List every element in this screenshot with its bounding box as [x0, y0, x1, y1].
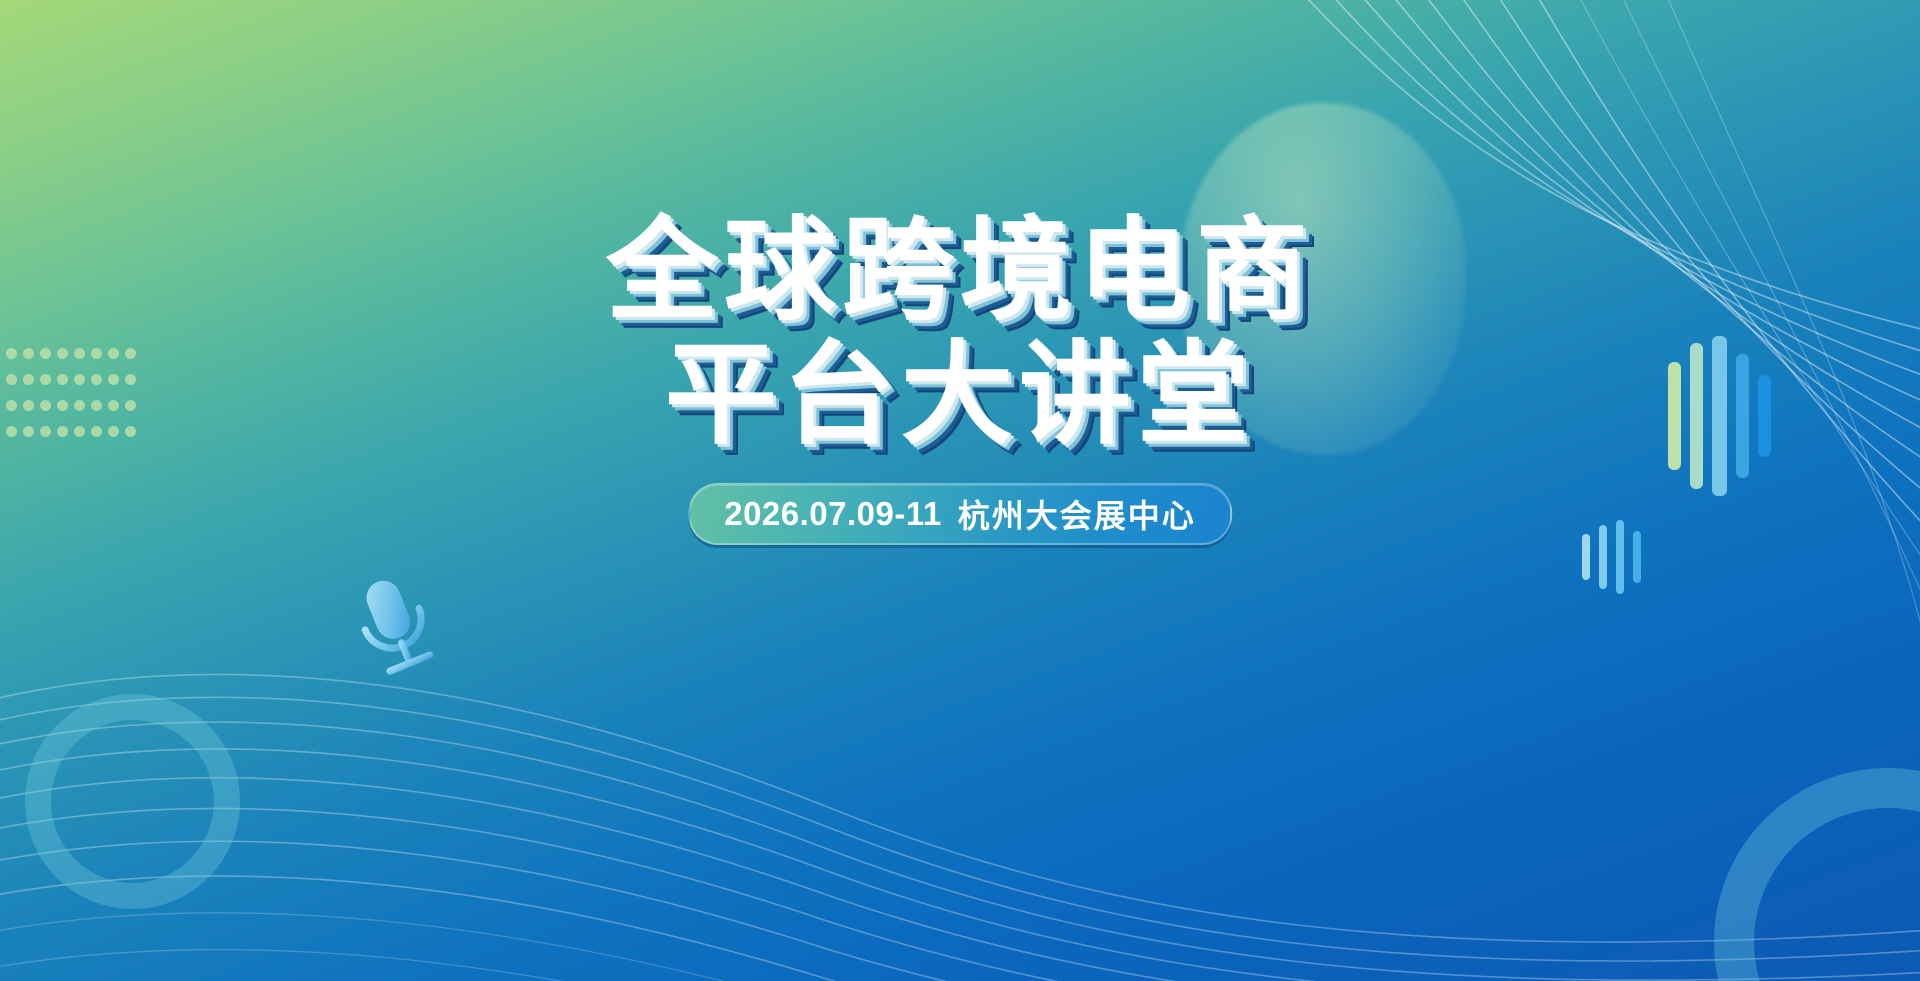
waveform-bar [1633, 531, 1641, 583]
event-venue: 杭州大会展中心 [958, 491, 1196, 537]
page-title-line-1: 全球跨境电商 [0, 215, 1920, 327]
waveform-bar [1599, 525, 1607, 589]
page-title-line-2: 平台大讲堂 [0, 339, 1920, 451]
waveform-bar [1582, 534, 1590, 580]
title-block: 全球跨境电商 平台大讲堂 [0, 215, 1920, 451]
date-venue-badge: 2026.07.09-11 杭州大会展中心 [688, 483, 1232, 545]
waveform-bar [1616, 520, 1624, 594]
banner-canvas: 全球跨境电商 平台大讲堂 2026.07.09-11 杭州大会展中心 [0, 0, 1920, 981]
event-date: 2026.07.09-11 [724, 495, 942, 533]
audio-waveform-small-icon [1582, 520, 1641, 594]
ring-decoration-right [1714, 768, 1920, 981]
ring-decoration-left [25, 694, 240, 909]
microphone-icon [338, 578, 434, 678]
